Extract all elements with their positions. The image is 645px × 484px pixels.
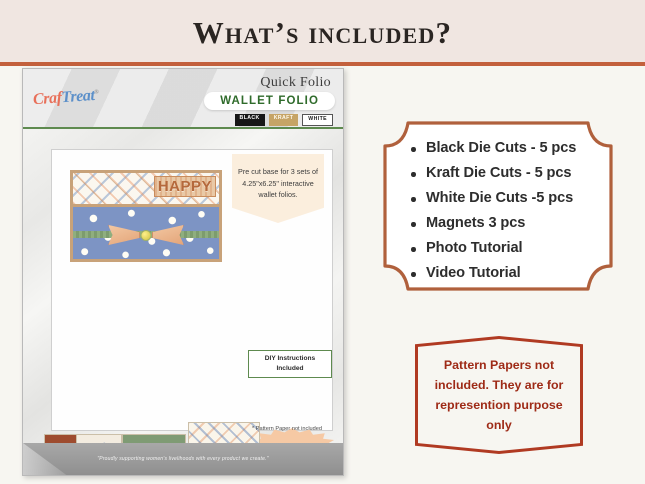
bow-right-loop bbox=[152, 223, 184, 247]
footer-tagline: "Proudly supporting women's livelihoods … bbox=[97, 456, 268, 462]
bow-left-loop bbox=[108, 223, 140, 247]
precut-base-callout: Pre cut base for 3 sets of 4.25"x6.25" i… bbox=[232, 154, 324, 223]
list-item: Kraft Die Cuts - 5 pcs bbox=[410, 161, 602, 186]
product-name-pill: WALLET FOLIO bbox=[204, 92, 335, 110]
bow-center-knot bbox=[141, 230, 152, 241]
list-item: Video Tutorial bbox=[410, 261, 602, 286]
folio-floral-body bbox=[70, 204, 222, 262]
brand-logo-part-1: Craf bbox=[32, 89, 62, 108]
list-item: White Die Cuts -5 pcs bbox=[410, 186, 602, 211]
includes-frame: Black Die Cuts - 5 pcs Kraft Die Cuts - … bbox=[382, 120, 614, 292]
swatch-white: WHITE bbox=[302, 114, 333, 126]
page-title: What’s included? bbox=[0, 15, 645, 51]
folio-happy-lettering: HAPPY bbox=[154, 176, 216, 197]
wallet-folio-sample: HAPPY bbox=[70, 170, 222, 262]
header-divider-rule bbox=[0, 62, 645, 66]
disclaimer-badge: Pattern Papers not included. They are fo… bbox=[415, 336, 583, 454]
trademark-symbol: ® bbox=[94, 89, 99, 95]
brand-logo-part-2: Treat bbox=[61, 87, 95, 106]
color-swatch-group: BLACK KRAFT WHITE bbox=[235, 114, 333, 126]
list-item: Black Die Cuts - 5 pcs bbox=[410, 136, 602, 161]
includes-item-list: Black Die Cuts - 5 pcs Kraft Die Cuts - … bbox=[410, 136, 602, 287]
package-photo-area: HAPPY Pre cut base for 3 sets of 4.25"x6… bbox=[23, 129, 343, 443]
product-package-card: CrafTreat® Quick Folio WALLET FOLIO BLAC… bbox=[22, 68, 344, 476]
list-item: Photo Tutorial bbox=[410, 236, 602, 261]
package-footer-strip: "Proudly supporting women's livelihoods … bbox=[23, 443, 343, 475]
swatch-kraft: KRAFT bbox=[269, 114, 299, 126]
folio-plaid-flap: HAPPY bbox=[70, 170, 222, 207]
swatch-black: BLACK bbox=[235, 114, 265, 126]
disclaimer-text: Pattern Papers not included. They are fo… bbox=[415, 336, 583, 454]
photo-white-backdrop: HAPPY Pre cut base for 3 sets of 4.25"x6… bbox=[51, 149, 333, 431]
product-line-label: Quick Folio bbox=[260, 75, 331, 91]
craftreat-brand-logo: CrafTreat® bbox=[32, 87, 99, 110]
folio-bow bbox=[108, 223, 184, 247]
pattern-paper-footnote: * Pattern Paper not included bbox=[252, 426, 322, 432]
diy-instructions-badge: DIY Instructions Included bbox=[248, 350, 332, 378]
list-item: Magnets 3 pcs bbox=[410, 211, 602, 236]
footer-decorative-swash bbox=[23, 443, 93, 475]
package-header-bar: CrafTreat® Quick Folio WALLET FOLIO BLAC… bbox=[23, 69, 343, 129]
